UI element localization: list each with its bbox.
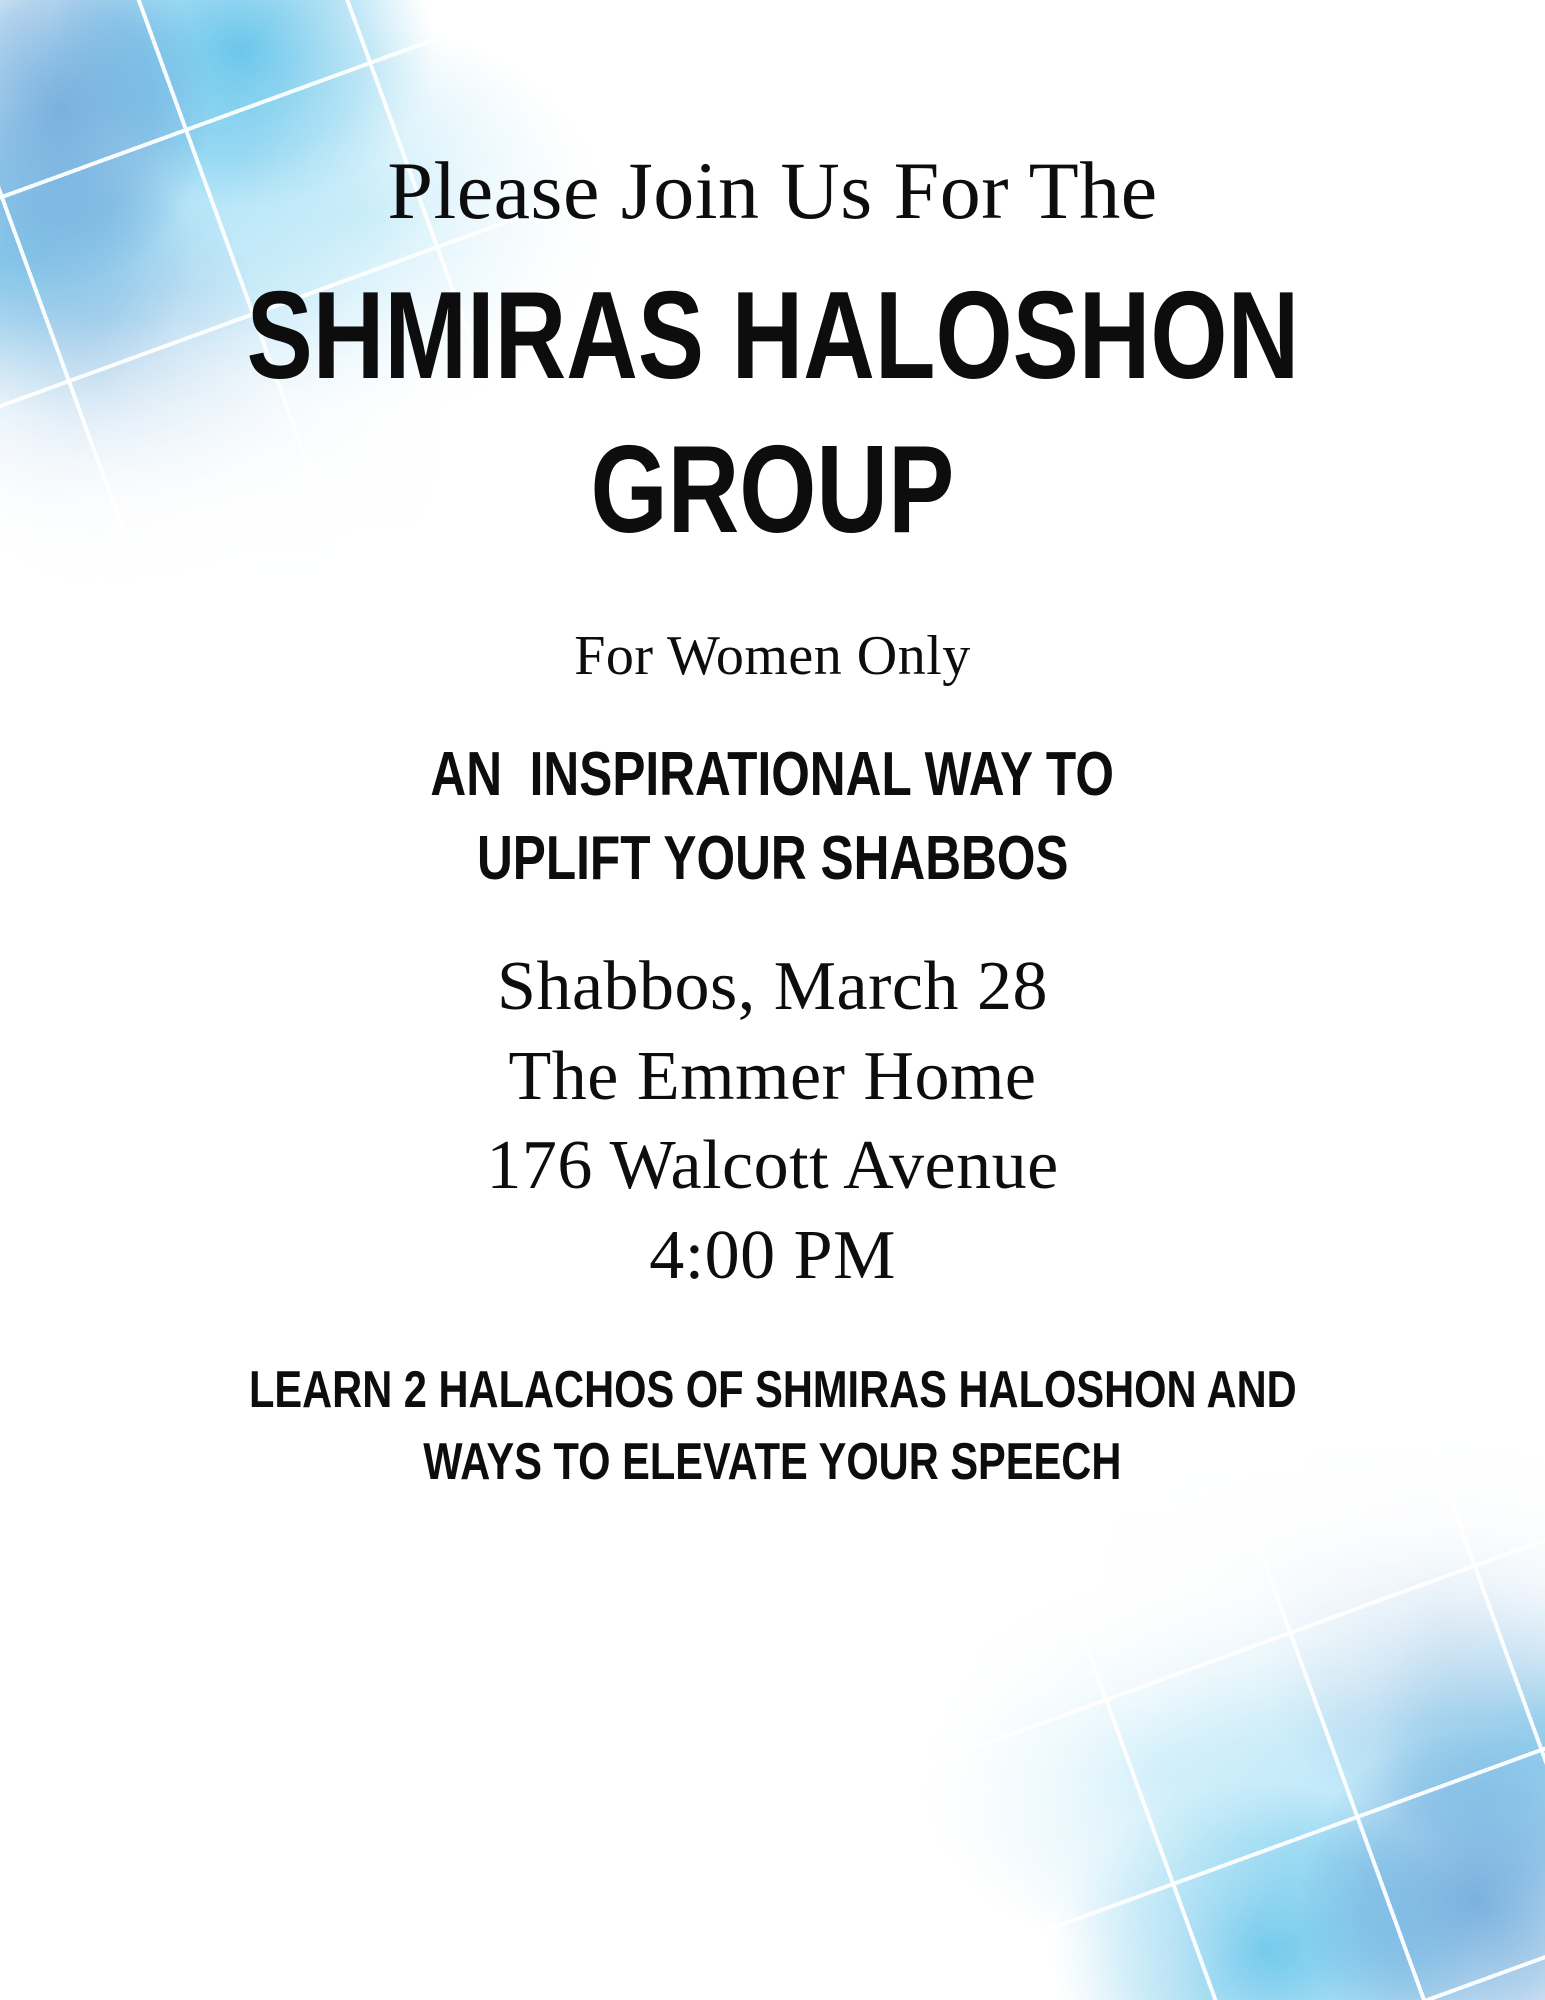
- tagline-line-2-text: Uplift Your Shabbos: [477, 820, 1069, 898]
- invitation-line: Please Join Us For The: [0, 0, 1545, 232]
- footer-line-2-text: Ways to Elevate Your Speech: [423, 1430, 1121, 1496]
- flyer-content: Please Join Us For The Shmiras Haloshon …: [0, 0, 1545, 1495]
- footer-line-1: Learn 2 Halachos of Shmiras Haloshon and: [0, 1300, 1545, 1424]
- footer-line-1-text: Learn 2 Halachos of Shmiras Haloshon and: [249, 1358, 1297, 1424]
- event-title-line-1: Shmiras Haloshon: [0, 232, 1545, 404]
- tagline-line-1-text: An Inspirational Way to: [431, 736, 1114, 814]
- tagline-line-2: Uplift Your Shabbos: [0, 814, 1545, 898]
- footer-line-2: Ways to Elevate Your Speech: [0, 1424, 1545, 1496]
- event-date: Shabbos, March 28: [0, 942, 1545, 1032]
- event-venue: The Emmer Home: [0, 1032, 1545, 1122]
- event-title-line-2-text: Group: [591, 424, 955, 558]
- tagline-line-1: An Inspirational Way to: [0, 684, 1545, 814]
- event-time: 4:00 PM: [0, 1211, 1545, 1301]
- flyer-page: Please Join Us For The Shmiras Haloshon …: [0, 0, 1545, 2000]
- event-title-line-1-text: Shmiras Haloshon: [246, 270, 1299, 404]
- event-address: 176 Walcott Avenue: [0, 1121, 1545, 1211]
- event-title-line-2: Group: [0, 404, 1545, 558]
- audience-note: For Women Only: [0, 558, 1545, 684]
- event-details: Shabbos, March 28 The Emmer Home 176 Wal…: [0, 898, 1545, 1300]
